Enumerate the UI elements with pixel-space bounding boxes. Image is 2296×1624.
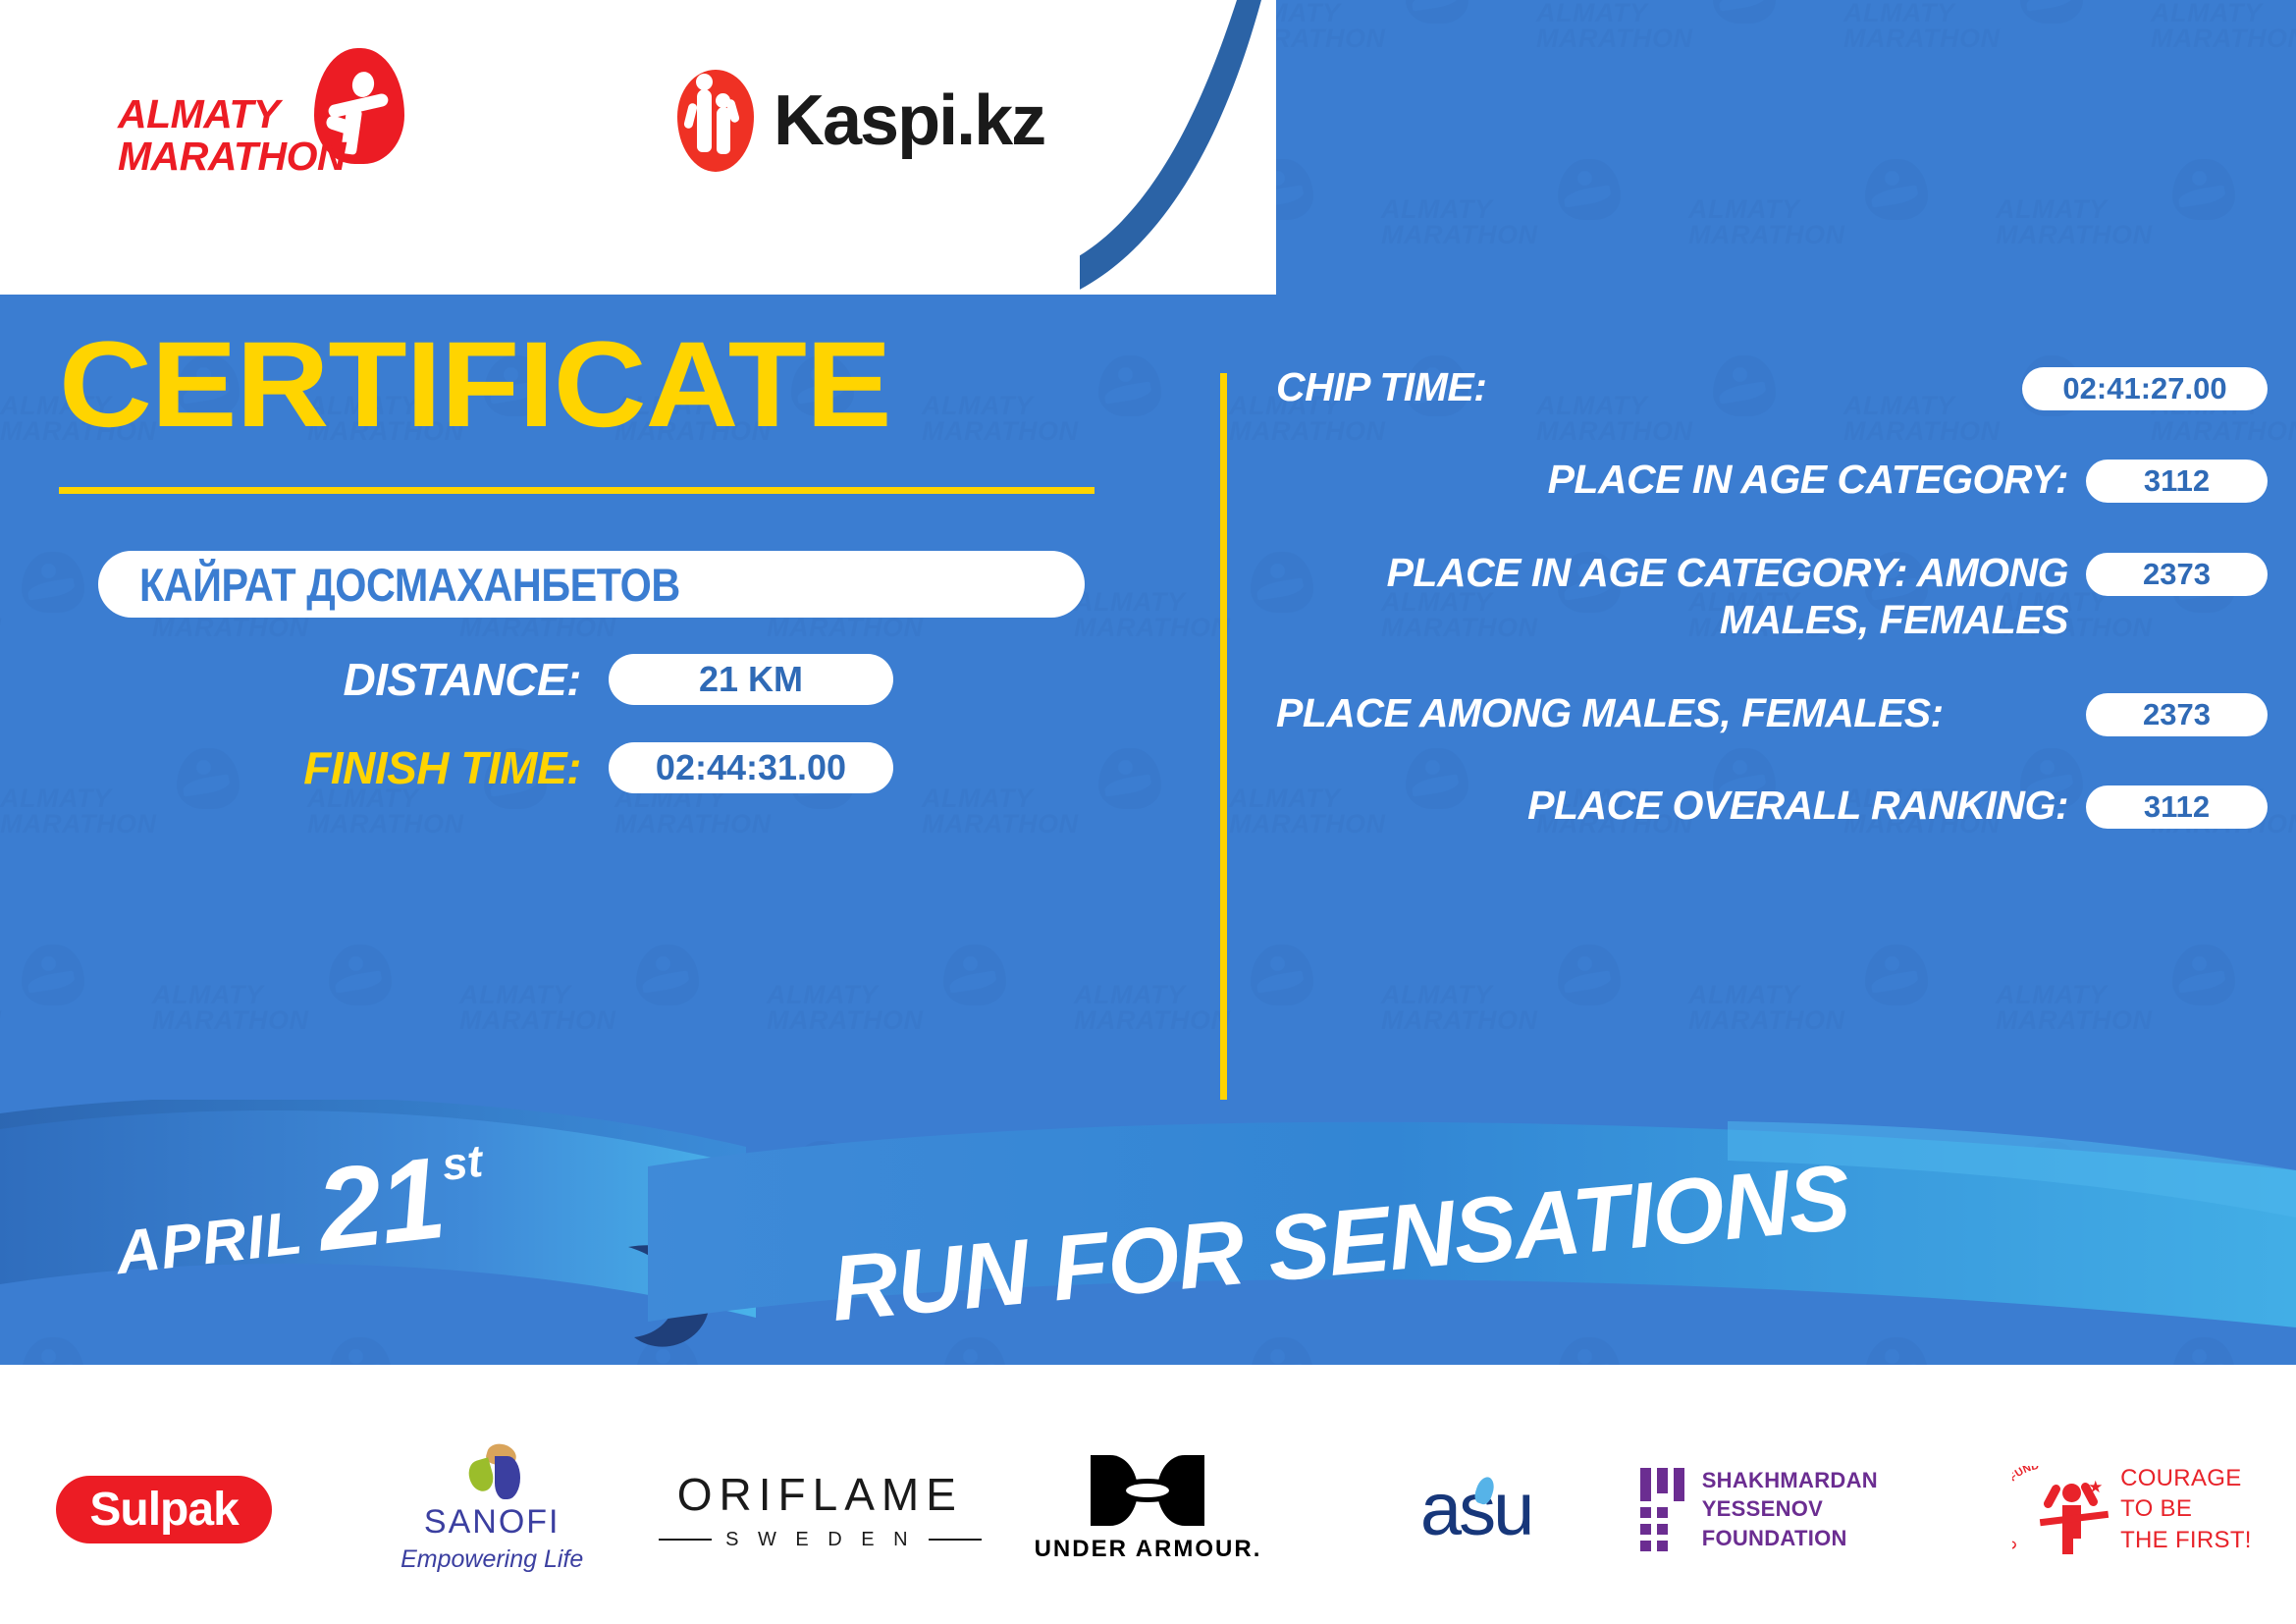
distance-value: 21 KM — [609, 654, 893, 705]
yessenov-line1: SHAKHMARDAN YESSENOV — [1702, 1466, 1968, 1523]
watermark-tile: ALMATYMARATHON — [767, 982, 1061, 1034]
sponsor-yessenov-foundation: SHAKHMARDAN YESSENOV FOUNDATION — [1640, 1466, 1968, 1551]
svg-text:CORPORATE FUND: CORPORATE FUND — [2012, 1466, 2040, 1551]
event-day-ordinal: st — [440, 1134, 486, 1191]
participant-name-field: КАЙРАТ ДОСМАХАНБЕТОВ — [98, 551, 1085, 618]
watermark-tile: ALMATYMARATHON — [1381, 196, 1676, 248]
courage-line1: COURAGE — [2120, 1463, 2252, 1493]
courage-lockup: CORPORATE FUND ★ COURAGE TO BE THE FIRST… — [2012, 1462, 2252, 1556]
oriflame-rule-right — [929, 1539, 982, 1541]
stat-row-place-age-category: PLACE IN AGE CATEGORY: 3112 — [1276, 456, 2268, 503]
courage-runner-icon: CORPORATE FUND ★ — [2012, 1462, 2107, 1556]
sponsor-courage-fund: CORPORATE FUND ★ COURAGE TO BE THE FIRST… — [1968, 1462, 2296, 1556]
sanofi-bird-icon — [461, 1444, 522, 1499]
oriflame-rule-left — [659, 1539, 712, 1541]
watermark-tile: ALMATYMARATHON — [1688, 196, 1983, 248]
almaty-logo-line2: MARATHON — [118, 135, 346, 178]
watermark-tile: ALMATYMARATHON — [152, 982, 447, 1034]
asu-wordmark: asu — [1420, 1467, 1532, 1552]
sponsor-under-armour: UNDER ARMOUR. — [984, 1455, 1311, 1563]
place-age-category-among-value: 2373 — [2086, 553, 2268, 596]
finish-time-value: 02:44:31.00 — [609, 742, 893, 793]
yessenov-lockup: SHAKHMARDAN YESSENOV FOUNDATION — [1640, 1466, 1968, 1551]
stat-row-place-among-males-females: PLACE AMONG MALES, FEMALES: 2373 — [1276, 689, 2268, 736]
participant-name-value: КАЙРАТ ДОСМАХАНБЕТОВ — [139, 558, 680, 612]
left-column: CERTIFICATE КАЙРАТ ДОСМАХАНБЕТОВ DISTANC… — [0, 324, 1207, 794]
place-overall-ranking-label: PLACE OVERALL RANKING: — [1276, 782, 2086, 829]
yessenov-line2: FOUNDATION — [1702, 1524, 1968, 1552]
place-age-category-label: PLACE IN AGE CATEGORY: — [1276, 456, 2086, 503]
asu-wordmark-text: asu — [1420, 1468, 1532, 1551]
place-age-category-value: 3112 — [2086, 460, 2268, 503]
page-title: CERTIFICATE — [59, 324, 1276, 446]
column-divider — [1220, 373, 1227, 1100]
courage-wordmark: COURAGE TO BE THE FIRST! — [2120, 1463, 2252, 1555]
oriflame-subline: S W E D E N — [659, 1529, 982, 1551]
watermark-tile: ALMATYMARATHON — [1688, 982, 1983, 1034]
chip-time-label: CHIP TIME: — [1276, 363, 2022, 410]
oriflame-wordmark: ORIFLAME — [677, 1468, 963, 1521]
chip-time-value: 02:41:27.00 — [2022, 367, 2268, 410]
sponsor-oriflame: ORIFLAME S W E D E N — [656, 1468, 984, 1551]
finish-time-row: FINISH TIME: 02:44:31.00 — [0, 741, 1207, 794]
finish-time-label: FINISH TIME: — [0, 741, 609, 794]
event-day: 21 — [310, 1131, 450, 1278]
watermark-tile: ALMATYMARATHON — [1536, 0, 1831, 52]
certificate-page: ALMATYMARATHONALMATYMARATHONALMATYMARATH… — [0, 0, 2296, 1624]
place-overall-ranking-value: 3112 — [2086, 785, 2268, 829]
sponsor-sanofi: SANOFI Empowering Life — [328, 1444, 656, 1574]
yessenov-wordmark: SHAKHMARDAN YESSENOV FOUNDATION — [1702, 1466, 1968, 1551]
oriflame-country: S W E D E N — [725, 1529, 915, 1551]
distance-label: DISTANCE: — [0, 653, 609, 706]
watermark-tile: ALMATYMARATHON — [1843, 0, 2138, 52]
sponsor-sulpak: Sulpak — [0, 1476, 328, 1543]
sanofi-wordmark: SANOFI — [424, 1503, 561, 1542]
sulpak-wordmark: Sulpak — [56, 1476, 271, 1543]
header-slope-shape — [1080, 0, 1394, 295]
right-column: CHIP TIME: 02:41:27.00 PLACE IN AGE CATE… — [1276, 363, 2268, 874]
kaspi-logo: Kaspi.kz — [677, 67, 1044, 175]
watermark-tile: ALMATYMARATHON — [1996, 196, 2290, 248]
watermark-tile: ALMATYMARATHON — [459, 982, 754, 1034]
sanofi-tagline: Empowering Life — [400, 1545, 583, 1574]
under-armour-wordmark: UNDER ARMOUR. — [1035, 1536, 1262, 1563]
kaspi-wordmark: Kaspi.kz — [774, 81, 1044, 161]
place-age-category-among-label: PLACE IN AGE CATEGORY: AMONG MALES, FEMA… — [1276, 549, 2086, 644]
sponsor-asu: asu — [1312, 1467, 1640, 1552]
watermark-tile: ALMATYMARATHON — [0, 982, 139, 1034]
yessenov-grid-icon — [1640, 1468, 1684, 1551]
courage-line3: THE FIRST! — [2120, 1525, 2252, 1555]
courage-figure-icon: ★ — [2046, 1478, 2101, 1552]
watermark-tile: ALMATYMARATHON — [2151, 0, 2296, 52]
place-among-males-females-label: PLACE AMONG MALES, FEMALES: — [1276, 689, 2086, 736]
almaty-logo-line1: ALMATY — [118, 93, 346, 135]
stat-row-place-overall-ranking: PLACE OVERALL RANKING: 3112 — [1276, 782, 2268, 829]
distance-row: DISTANCE: 21 KM — [0, 653, 1207, 706]
under-armour-icon — [1091, 1455, 1204, 1526]
watermark-tile: ALMATYMARATHON — [1381, 982, 1676, 1034]
almaty-marathon-logo: ALMATY MARATHON — [118, 54, 442, 191]
almaty-marathon-wordmark: ALMATY MARATHON — [118, 93, 346, 179]
courage-line2: TO BE — [2120, 1493, 2252, 1524]
two-figures-drop-icon — [677, 70, 754, 172]
stat-row-place-age-category-among: PLACE IN AGE CATEGORY: AMONG MALES, FEMA… — [1276, 549, 2268, 644]
event-month: APRIL — [112, 1198, 306, 1288]
stat-row-chip-time: CHIP TIME: 02:41:27.00 — [1276, 363, 2268, 410]
sponsor-bar: Sulpak SANOFI Empowering Life ORIFLAME S… — [0, 1394, 2296, 1624]
title-underline — [59, 487, 1095, 494]
watermark-tile: ALMATYMARATHON — [1996, 982, 2290, 1034]
place-among-males-females-value: 2373 — [2086, 693, 2268, 736]
